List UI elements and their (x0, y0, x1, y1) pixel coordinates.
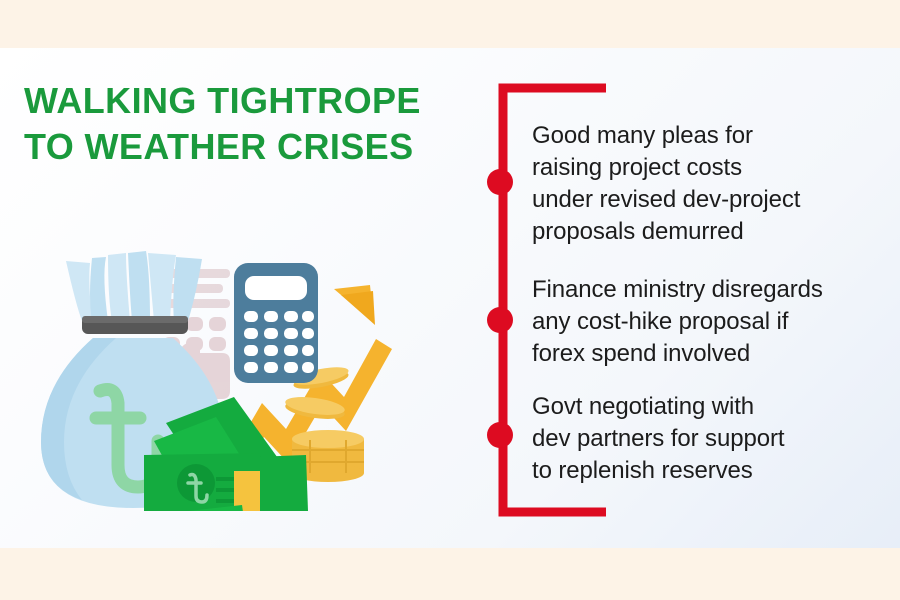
bullet-2-line-2: any cost-hike proposal if (532, 306, 892, 338)
bullet-3-line-2: dev partners for support (532, 423, 892, 455)
bullet-item-1: Good many pleas for raising project cost… (532, 120, 892, 248)
bullet-3-line-3: to replenish reserves (532, 455, 892, 487)
page-title: WALKING TIGHTROPE TO WEATHER CRISES (24, 78, 444, 170)
bullet-3-line-1: Govt negotiating with (532, 391, 892, 423)
page-title-line-2: TO WEATHER CRISES (24, 124, 444, 170)
bullet-1-line-2: raising project costs (532, 152, 892, 184)
bullet-2-line-3: forex spend involved (532, 338, 892, 370)
timeline-dot-2 (487, 307, 513, 333)
calculator-icon (234, 263, 318, 383)
bullet-2-line-1: Finance ministry disregards (532, 274, 892, 306)
bullet-1-line-4: proposals demurred (532, 216, 892, 248)
bullet-1-line-3: under revised dev-project (532, 184, 892, 216)
bullet-item-2: Finance ministry disregards any cost-hik… (532, 274, 892, 370)
bullet-1-line-1: Good many pleas for (532, 120, 892, 152)
infographic-root: WALKING TIGHTROPE TO WEATHER CRISES (0, 0, 900, 600)
timeline-dot-1 (487, 169, 513, 195)
finance-illustration (38, 243, 408, 511)
page-title-line-1: WALKING TIGHTROPE (24, 78, 444, 124)
timeline-dot-3 (487, 422, 513, 448)
bullet-item-3: Govt negotiating with dev partners for s… (532, 391, 892, 487)
